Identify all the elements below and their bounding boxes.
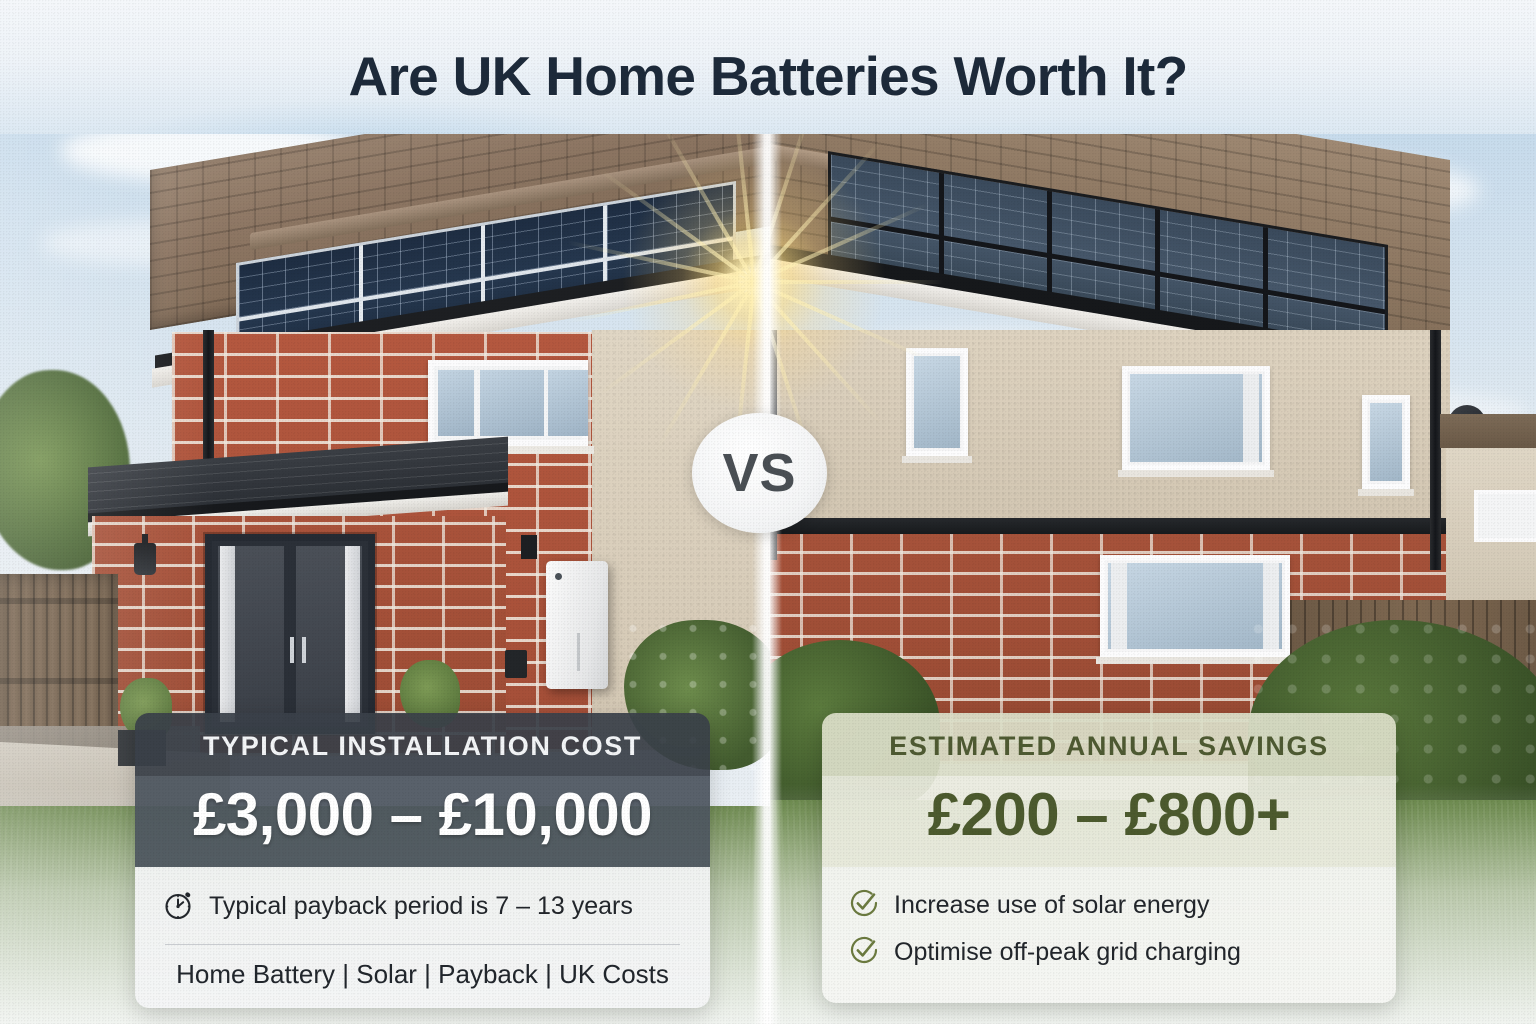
page-title: Are UK Home Batteries Worth It? — [0, 44, 1536, 108]
benefit-row: Optimise off-peak grid charging — [848, 934, 1370, 971]
cost-card-tags: Home Battery | Solar | Payback | UK Cost… — [161, 959, 684, 990]
payback-row: Typical payback period is 7 – 13 years — [161, 887, 684, 926]
cost-card-value: £3,000 – £10,000 — [135, 776, 710, 867]
installation-cost-card: TYPICAL INSTALLATION COST £3,000 – £10,0… — [135, 713, 710, 1008]
savings-card-heading: ESTIMATED ANNUAL SAVINGS — [822, 713, 1396, 776]
infographic-canvas: Are UK Home Batteries Worth It? VS TYPIC… — [0, 0, 1536, 1024]
cost-card-body: Typical payback period is 7 – 13 years H… — [135, 867, 710, 1008]
benefit-row: Increase use of solar energy — [848, 887, 1370, 924]
annual-savings-card: ESTIMATED ANNUAL SAVINGS £200 – £800+ In… — [822, 713, 1396, 1003]
savings-card-body: Increase use of solar energy Optimise of… — [822, 867, 1396, 1003]
savings-card-value: £200 – £800+ — [822, 776, 1396, 867]
payback-text: Typical payback period is 7 – 13 years — [209, 892, 633, 921]
card-divider-line — [165, 944, 680, 945]
stopwatch-icon — [161, 887, 195, 926]
check-circle-icon — [848, 887, 880, 924]
cost-card-heading: TYPICAL INSTALLATION COST — [135, 713, 710, 776]
benefit-label: Increase use of solar energy — [894, 891, 1209, 920]
vs-label: VS — [722, 442, 796, 504]
check-circle-icon — [848, 934, 880, 971]
vs-badge: VS — [692, 413, 827, 533]
benefit-label: Optimise off-peak grid charging — [894, 938, 1241, 967]
